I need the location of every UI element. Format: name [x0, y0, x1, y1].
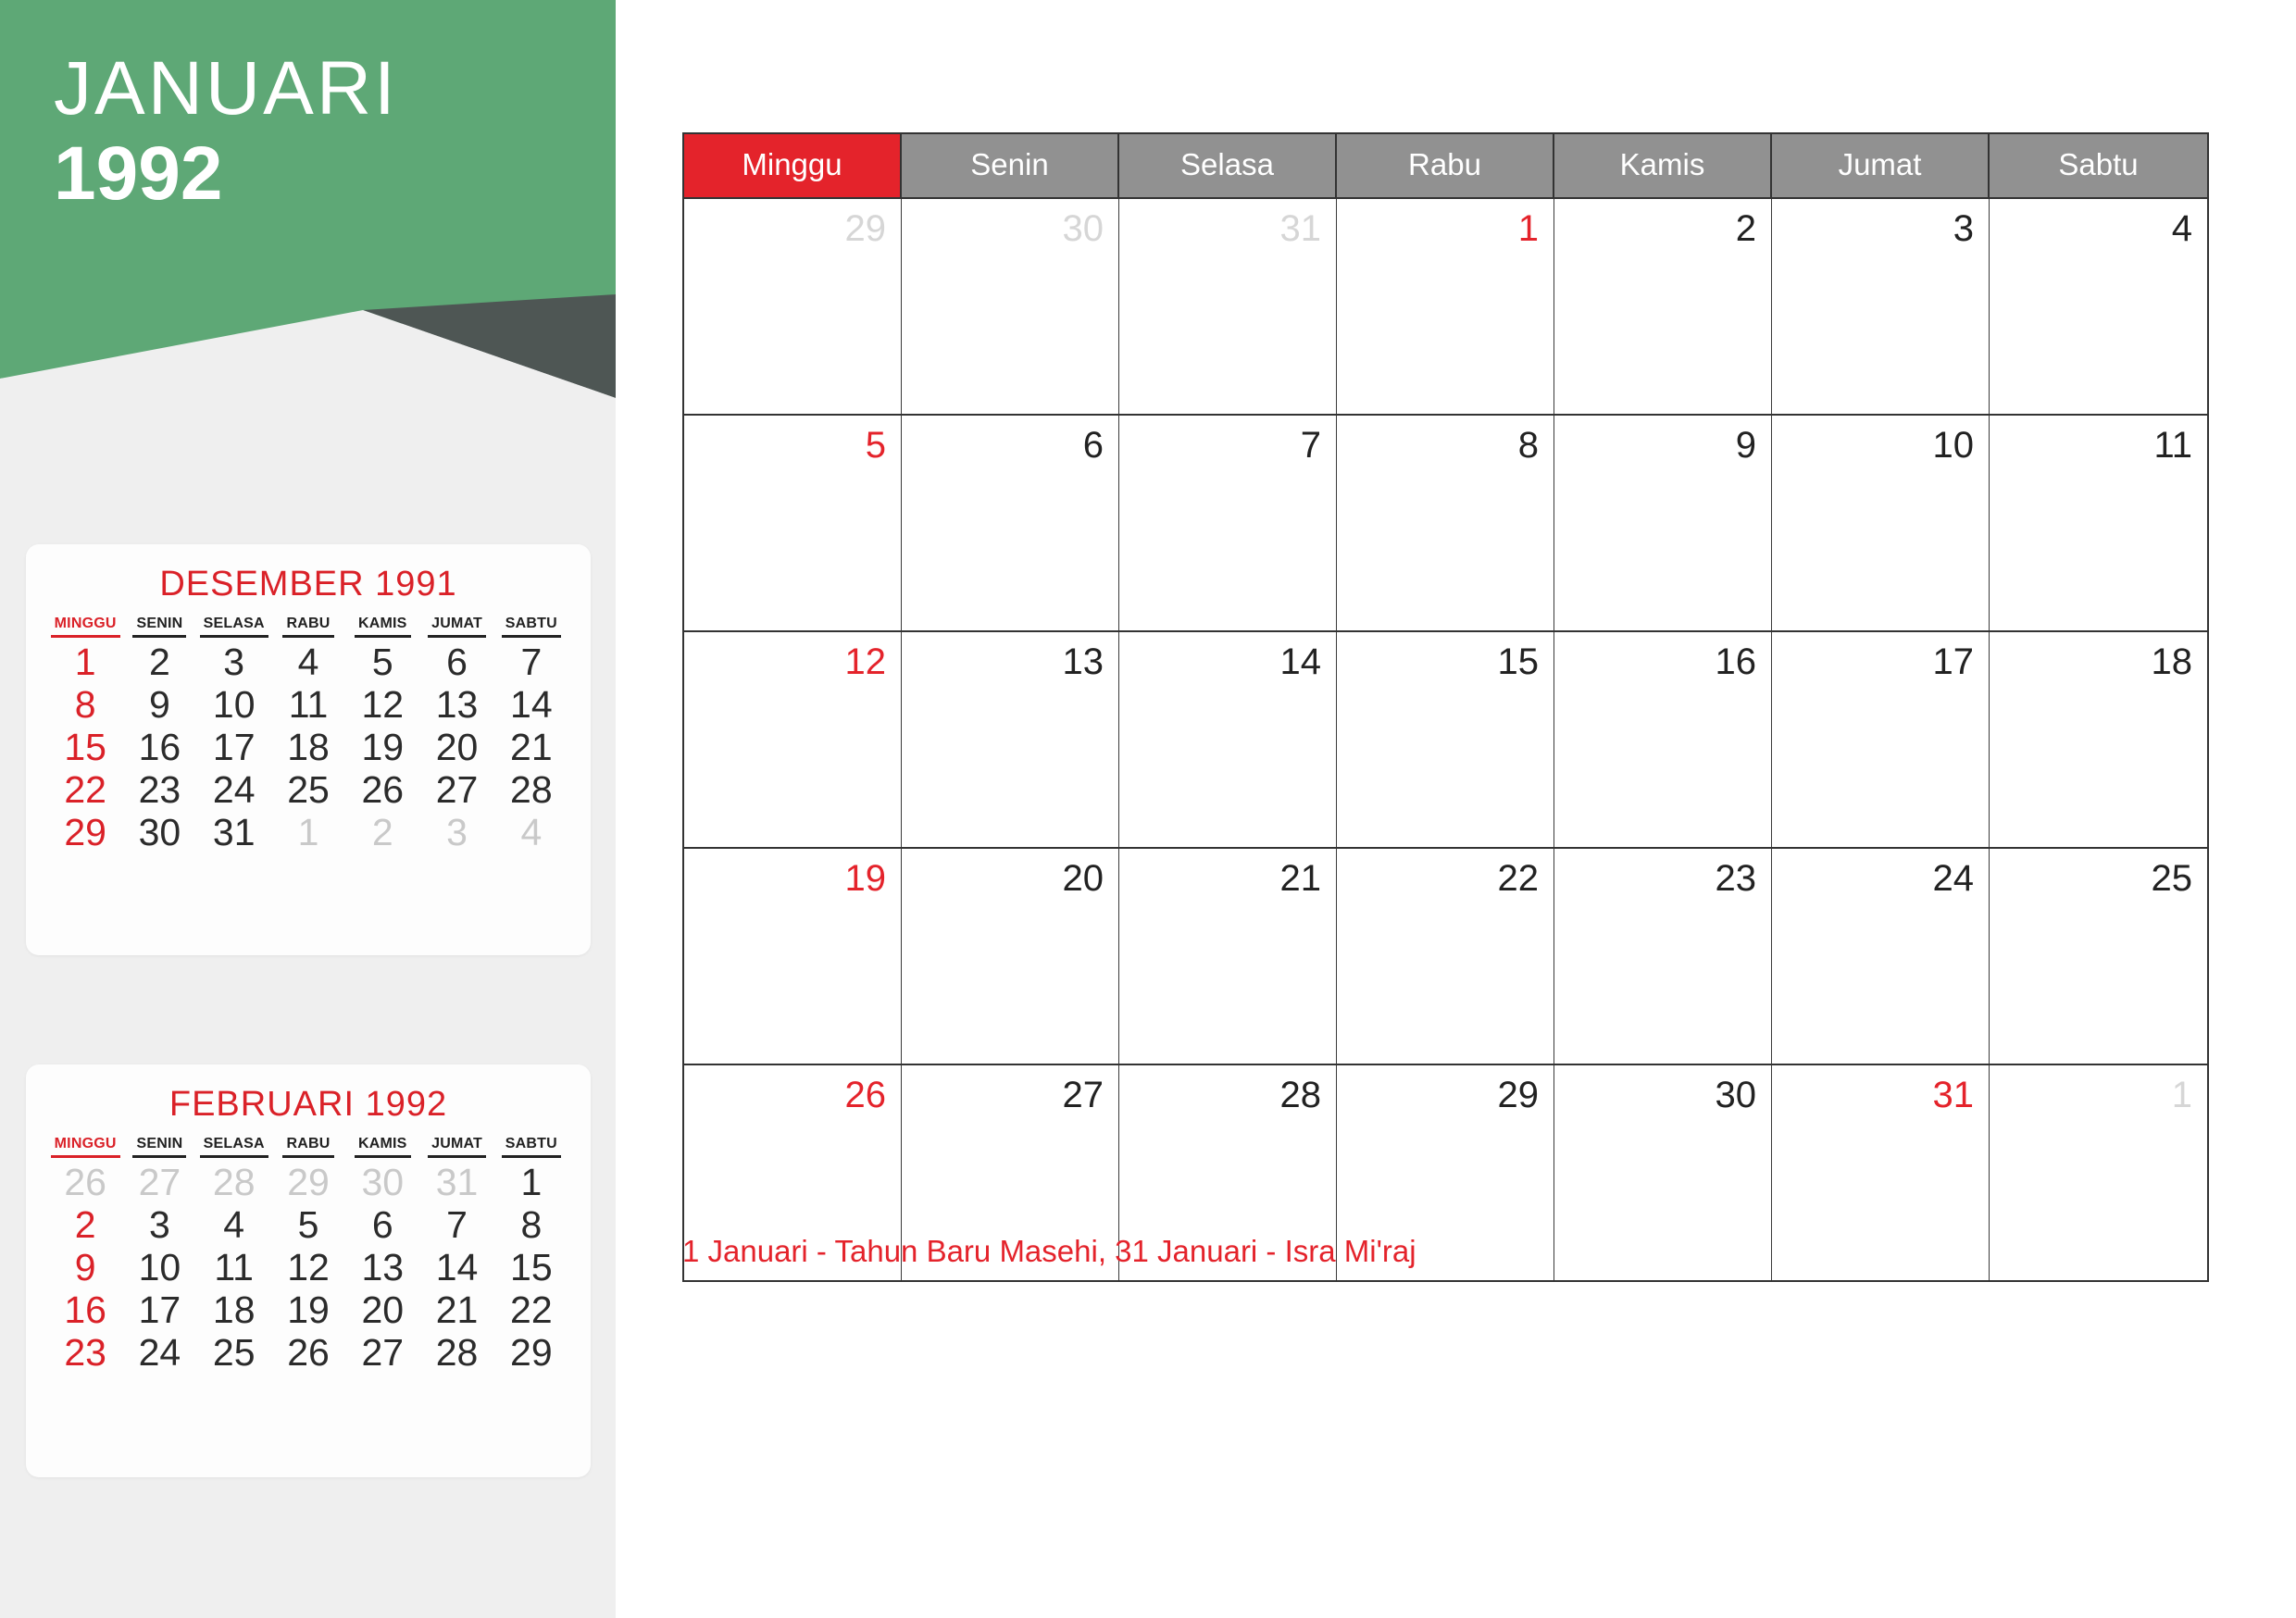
- main-calendar-body: 2930311234567891011121314151617181920212…: [682, 197, 2209, 1282]
- main-calendar-header-row: MingguSeninSelasaRabuKamisJumatSabtu: [682, 132, 2209, 197]
- mini-day-cell[interactable]: 28: [494, 769, 568, 812]
- mini-day-cell[interactable]: 4: [494, 812, 568, 854]
- mini-day-cell[interactable]: 12: [271, 1247, 345, 1289]
- mini-weekday-header-selasa: SELASA: [197, 1136, 271, 1162]
- mini-day-cell[interactable]: 15: [48, 727, 122, 769]
- mini-day-cell[interactable]: 20: [345, 1289, 419, 1332]
- left-panel: JANUARI 1992 DESEMBER 1991 MINGGUSENINSE…: [0, 0, 616, 1618]
- mini-calendar-prev-grid: MINGGUSENINSELASARABUKAMISJUMATSABTU1234…: [48, 616, 568, 854]
- mini-day-cell[interactable]: 22: [494, 1289, 568, 1332]
- mini-day-cell[interactable]: 4: [197, 1204, 271, 1247]
- mini-day-cell[interactable]: 28: [419, 1332, 493, 1375]
- mini-day-cell[interactable]: 27: [345, 1332, 419, 1375]
- mini-day-cell[interactable]: 26: [271, 1332, 345, 1375]
- mini-day-cell[interactable]: 8: [48, 684, 122, 727]
- mini-day-cell[interactable]: 11: [197, 1247, 271, 1289]
- mini-day-cell[interactable]: 10: [122, 1247, 196, 1289]
- mini-weekday-label: RABU: [282, 1136, 333, 1158]
- mini-day-cell[interactable]: 1: [271, 812, 345, 854]
- main-week-row: 12131415161718: [684, 632, 2207, 849]
- mini-day-cell[interactable]: 16: [122, 727, 196, 769]
- mini-day-cell[interactable]: 29: [48, 812, 122, 854]
- main-day-cell[interactable]: 17: [1772, 632, 1990, 847]
- mini-weekday-label: RABU: [282, 616, 333, 638]
- mini-weekday-header-sabtu: SABTU: [494, 616, 568, 641]
- mini-weekday-label: MINGGU: [51, 1136, 120, 1158]
- main-weekday-header-minggu: Minggu: [684, 134, 902, 197]
- mini-day-cell[interactable]: 3: [197, 641, 271, 684]
- mini-day-cell[interactable]: 14: [494, 684, 568, 727]
- mini-day-cell[interactable]: 26: [345, 769, 419, 812]
- mini-day-cell[interactable]: 14: [419, 1247, 493, 1289]
- main-day-cell[interactable]: 8: [1337, 416, 1554, 630]
- mini-day-cell[interactable]: 25: [197, 1332, 271, 1375]
- main-day-cell[interactable]: 11: [1990, 416, 2207, 630]
- mini-day-cell[interactable]: 15: [494, 1247, 568, 1289]
- mini-weekday-header-jumat: JUMAT: [419, 616, 493, 641]
- main-calendar: MingguSeninSelasaRabuKamisJumatSabtu 293…: [682, 132, 2209, 1282]
- mini-day-cell[interactable]: 13: [419, 684, 493, 727]
- mini-day-cell[interactable]: 17: [197, 727, 271, 769]
- mini-day-cell[interactable]: 30: [345, 1162, 419, 1204]
- mini-day-cell[interactable]: 29: [494, 1332, 568, 1375]
- main-day-cell[interactable]: 13: [902, 632, 1119, 847]
- main-day-cell[interactable]: 6: [902, 416, 1119, 630]
- mini-weekday-header-jumat: JUMAT: [419, 1136, 493, 1162]
- main-day-cell[interactable]: 9: [1554, 416, 1772, 630]
- holiday-note: 1 Januari - Tahun Baru Masehi, 31 Januar…: [682, 1234, 1416, 1269]
- main-day-cell[interactable]: 20: [902, 849, 1119, 1064]
- mini-weekday-header-kamis: KAMIS: [345, 616, 419, 641]
- main-day-cell[interactable]: 31: [1772, 1065, 1990, 1280]
- banner-title-block: JANUARI 1992: [54, 51, 398, 212]
- mini-day-cell[interactable]: 20: [419, 727, 493, 769]
- mini-weekday-label: JUMAT: [428, 1136, 486, 1158]
- main-day-cell[interactable]: 21: [1119, 849, 1337, 1064]
- mini-weekday-header-senin: SENIN: [122, 616, 196, 641]
- mini-calendar-next-title: FEBRUARI 1992: [48, 1085, 568, 1125]
- mini-day-cell[interactable]: 4: [271, 641, 345, 684]
- mini-calendar-prev-title: DESEMBER 1991: [48, 565, 568, 604]
- mini-day-cell[interactable]: 18: [197, 1289, 271, 1332]
- mini-day-cell[interactable]: 17: [122, 1289, 196, 1332]
- mini-day-cell[interactable]: 3: [122, 1204, 196, 1247]
- main-day-cell[interactable]: 1: [1337, 199, 1554, 414]
- main-day-cell[interactable]: 22: [1337, 849, 1554, 1064]
- main-day-cell[interactable]: 29: [684, 199, 902, 414]
- mini-day-cell[interactable]: 21: [494, 727, 568, 769]
- mini-weekday-header-kamis: KAMIS: [345, 1136, 419, 1162]
- mini-day-cell[interactable]: 19: [345, 727, 419, 769]
- mini-calendar-next-grid: MINGGUSENINSELASARABUKAMISJUMATSABTU2627…: [48, 1136, 568, 1375]
- main-day-cell[interactable]: 30: [902, 199, 1119, 414]
- mini-day-cell[interactable]: 24: [122, 1332, 196, 1375]
- main-day-cell[interactable]: 12: [684, 632, 902, 847]
- mini-weekday-label: KAMIS: [355, 616, 411, 638]
- mini-day-cell[interactable]: 27: [419, 769, 493, 812]
- mini-day-cell[interactable]: 31: [419, 1162, 493, 1204]
- mini-day-cell[interactable]: 23: [48, 1332, 122, 1375]
- mini-day-cell[interactable]: 24: [197, 769, 271, 812]
- mini-weekday-header-sabtu: SABTU: [494, 1136, 568, 1162]
- mini-weekday-label: KAMIS: [355, 1136, 411, 1158]
- mini-day-cell[interactable]: 2: [122, 641, 196, 684]
- main-day-cell[interactable]: 14: [1119, 632, 1337, 847]
- mini-weekday-label: SABTU: [502, 1136, 561, 1158]
- mini-day-cell[interactable]: 29: [271, 1162, 345, 1204]
- mini-day-cell[interactable]: 11: [271, 684, 345, 727]
- main-day-cell[interactable]: 25: [1990, 849, 2207, 1064]
- mini-day-cell[interactable]: 30: [122, 812, 196, 854]
- main-day-cell[interactable]: 2: [1554, 199, 1772, 414]
- mini-day-cell[interactable]: 1: [494, 1162, 568, 1204]
- mini-day-cell[interactable]: 27: [122, 1162, 196, 1204]
- main-day-cell[interactable]: 24: [1772, 849, 1990, 1064]
- main-weekday-header-rabu: Rabu: [1337, 134, 1554, 197]
- mini-calendar-previous-month: DESEMBER 1991 MINGGUSENINSELASARABUKAMIS…: [26, 544, 591, 955]
- mini-day-cell[interactable]: 3: [419, 812, 493, 854]
- main-day-cell[interactable]: 5: [684, 416, 902, 630]
- mini-day-cell[interactable]: 13: [345, 1247, 419, 1289]
- mini-day-cell[interactable]: 6: [345, 1204, 419, 1247]
- mini-weekday-header-rabu: RABU: [271, 616, 345, 641]
- main-weekday-header-jumat: Jumat: [1772, 134, 1990, 197]
- mini-day-cell[interactable]: 7: [494, 641, 568, 684]
- main-day-cell[interactable]: 18: [1990, 632, 2207, 847]
- mini-day-cell[interactable]: 9: [48, 1247, 122, 1289]
- mini-day-cell[interactable]: 21: [419, 1289, 493, 1332]
- mini-weekday-label: JUMAT: [428, 616, 486, 638]
- mini-day-cell[interactable]: 9: [122, 684, 196, 727]
- mini-day-cell[interactable]: 23: [122, 769, 196, 812]
- mini-weekday-label: SELASA: [200, 1136, 268, 1158]
- main-day-cell[interactable]: 1: [1990, 1065, 2207, 1280]
- mini-day-cell[interactable]: 5: [345, 641, 419, 684]
- main-day-cell[interactable]: 30: [1554, 1065, 1772, 1280]
- main-day-cell[interactable]: 4: [1990, 199, 2207, 414]
- mini-weekday-label: SABTU: [502, 616, 561, 638]
- banner-month-label: JANUARI: [54, 51, 398, 127]
- main-day-cell[interactable]: 31: [1119, 199, 1337, 414]
- mini-day-cell[interactable]: 16: [48, 1289, 122, 1332]
- mini-weekday-header-rabu: RABU: [271, 1136, 345, 1162]
- main-day-cell[interactable]: 15: [1337, 632, 1554, 847]
- main-weekday-header-kamis: Kamis: [1554, 134, 1772, 197]
- mini-day-cell[interactable]: 22: [48, 769, 122, 812]
- mini-day-cell[interactable]: 7: [419, 1204, 493, 1247]
- main-weekday-header-senin: Senin: [902, 134, 1119, 197]
- mini-weekday-label: SENIN: [132, 616, 186, 638]
- main-day-cell[interactable]: 16: [1554, 632, 1772, 847]
- mini-day-cell[interactable]: 28: [197, 1162, 271, 1204]
- mini-day-cell[interactable]: 10: [197, 684, 271, 727]
- mini-weekday-label: SELASA: [200, 616, 268, 638]
- mini-weekday-label: SENIN: [132, 1136, 186, 1158]
- mini-day-cell[interactable]: 2: [48, 1204, 122, 1247]
- mini-weekday-label: MINGGU: [51, 616, 120, 638]
- main-day-cell[interactable]: 7: [1119, 416, 1337, 630]
- main-day-cell[interactable]: 10: [1772, 416, 1990, 630]
- main-week-row: 2930311234: [684, 199, 2207, 416]
- mini-day-cell[interactable]: 1: [48, 641, 122, 684]
- main-week-row: 567891011: [684, 416, 2207, 632]
- mini-day-cell[interactable]: 6: [419, 641, 493, 684]
- mini-day-cell[interactable]: 8: [494, 1204, 568, 1247]
- mini-day-cell[interactable]: 26: [48, 1162, 122, 1204]
- main-weekday-header-sabtu: Sabtu: [1990, 134, 2207, 197]
- mini-day-cell[interactable]: 18: [271, 727, 345, 769]
- mini-day-cell[interactable]: 5: [271, 1204, 345, 1247]
- mini-calendar-next-month: FEBRUARI 1992 MINGGUSENINSELASARABUKAMIS…: [26, 1064, 591, 1477]
- mini-weekday-header-minggu: MINGGU: [48, 616, 122, 641]
- main-weekday-header-selasa: Selasa: [1119, 134, 1337, 197]
- mini-weekday-header-minggu: MINGGU: [48, 1136, 122, 1162]
- mini-day-cell[interactable]: 12: [345, 684, 419, 727]
- mini-weekday-header-selasa: SELASA: [197, 616, 271, 641]
- banner-year-label: 1992: [54, 136, 398, 212]
- mini-weekday-header-senin: SENIN: [122, 1136, 196, 1162]
- mini-day-cell[interactable]: 2: [345, 812, 419, 854]
- main-week-row: 19202122232425: [684, 849, 2207, 1065]
- mini-day-cell[interactable]: 31: [197, 812, 271, 854]
- mini-day-cell[interactable]: 25: [271, 769, 345, 812]
- mini-day-cell[interactable]: 19: [271, 1289, 345, 1332]
- main-day-cell[interactable]: 3: [1772, 199, 1990, 414]
- main-day-cell[interactable]: 19: [684, 849, 902, 1064]
- main-day-cell[interactable]: 23: [1554, 849, 1772, 1064]
